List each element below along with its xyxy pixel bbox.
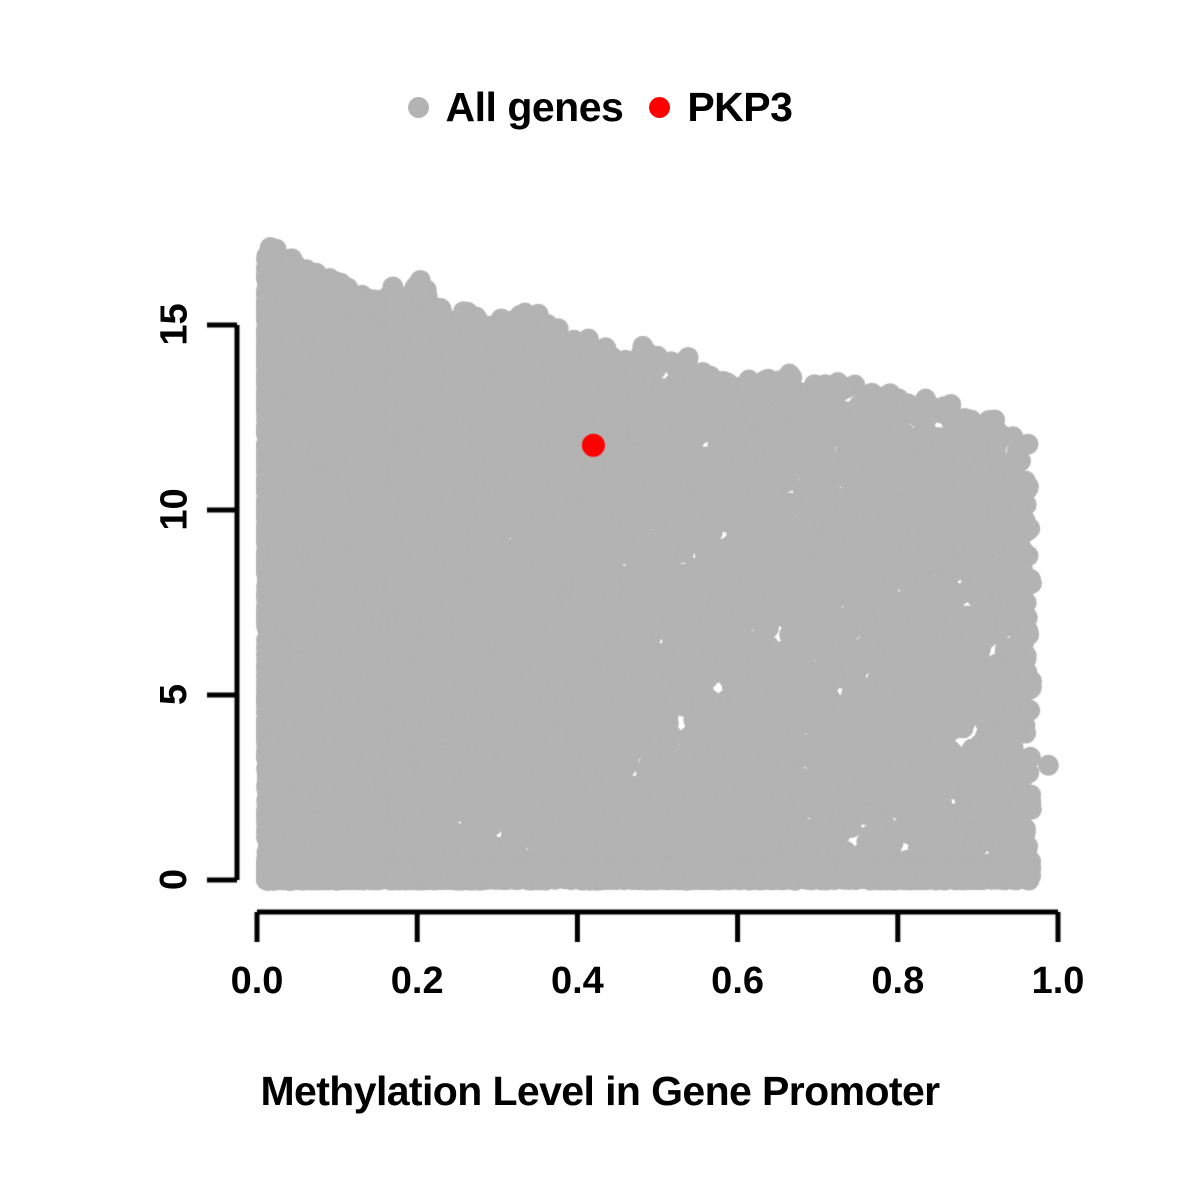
y-tick-label-0: 0 [135,858,215,901]
x-tick-label-3: 0.6 [711,960,764,1003]
y-tick-label-1: 5 [135,673,215,716]
x-tick-label-1: 0.2 [391,960,444,1003]
x-tick-label-5: 1.0 [1032,960,1085,1003]
scatter-plot-canvas [0,0,1200,1200]
scatter-plot-figure: All genes PKP3 Methylation Level in Gene… [0,0,1200,1200]
x-tick-label-4: 0.8 [871,960,924,1003]
y-tick-label-3: 15 [135,303,215,346]
x-axis-label: Methylation Level in Gene Promoter [0,1068,1200,1115]
x-tick-label-2: 0.4 [551,960,604,1003]
y-tick-label-2: 10 [135,488,215,531]
x-tick-label-0: 0.0 [231,960,284,1003]
